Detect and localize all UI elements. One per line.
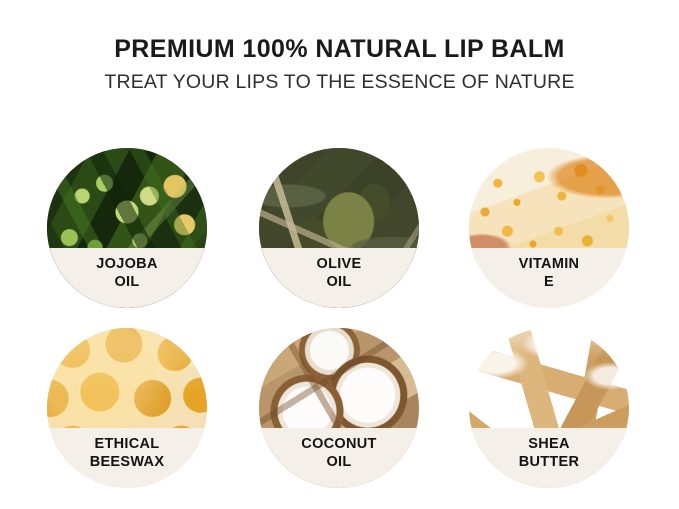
header: PREMIUM 100% NATURAL LIP BALM TREAT YOUR… xyxy=(0,34,679,94)
ingredient-circle: SHEA BUTTER xyxy=(469,328,629,488)
ingredient-label: ETHICAL BEESWAX xyxy=(47,428,207,488)
ingredient-label: SHEA BUTTER xyxy=(469,428,629,488)
ingredient-label-line1: JOJOBA xyxy=(96,255,157,273)
ingredient-cell-jojoba-oil: JOJOBA OIL xyxy=(47,148,207,308)
product-infographic: PREMIUM 100% NATURAL LIP BALM TREAT YOUR… xyxy=(0,0,679,509)
ingredient-label: JOJOBA OIL xyxy=(47,248,207,308)
ingredient-label: COCONUT OIL xyxy=(259,428,419,488)
ingredient-label-line1: OLIVE xyxy=(316,255,361,273)
ingredient-label: VITAMIN E xyxy=(469,248,629,308)
ingredient-label-line1: VITAMIN xyxy=(519,255,580,273)
ingredient-circle: ETHICAL BEESWAX xyxy=(47,328,207,488)
ingredient-label-line1: SHEA xyxy=(528,435,570,453)
ingredient-cell-vitamin-e: VITAMIN E xyxy=(469,148,629,308)
ingredient-circle: OLIVE OIL xyxy=(259,148,419,308)
ingredient-label-line2: OIL xyxy=(326,273,351,291)
ingredient-label-line2: E xyxy=(544,273,554,291)
ingredient-cell-olive-oil: OLIVE OIL xyxy=(259,148,419,308)
ingredient-label-line2: OIL xyxy=(326,453,351,471)
ingredient-grid: JOJOBA OIL OLIVE OIL VITAMIN E xyxy=(47,148,629,488)
ingredient-circle: COCONUT OIL xyxy=(259,328,419,488)
ingredient-label-line1: COCONUT xyxy=(301,435,376,453)
page-title: PREMIUM 100% NATURAL LIP BALM xyxy=(0,34,679,64)
ingredient-circle: JOJOBA OIL xyxy=(47,148,207,308)
page-subtitle: TREAT YOUR LIPS TO THE ESSENCE OF NATURE xyxy=(0,70,679,94)
ingredient-label-line2: BUTTER xyxy=(519,453,580,471)
ingredient-cell-ethical-beeswax: ETHICAL BEESWAX xyxy=(47,328,207,488)
ingredient-circle: VITAMIN E xyxy=(469,148,629,308)
ingredient-label-line1: ETHICAL xyxy=(95,435,160,453)
ingredient-cell-shea-butter: SHEA BUTTER xyxy=(469,328,629,488)
ingredient-label-line2: BEESWAX xyxy=(90,453,165,471)
ingredient-label: OLIVE OIL xyxy=(259,248,419,308)
ingredient-cell-coconut-oil: COCONUT OIL xyxy=(259,328,419,488)
ingredient-label-line2: OIL xyxy=(114,273,139,291)
